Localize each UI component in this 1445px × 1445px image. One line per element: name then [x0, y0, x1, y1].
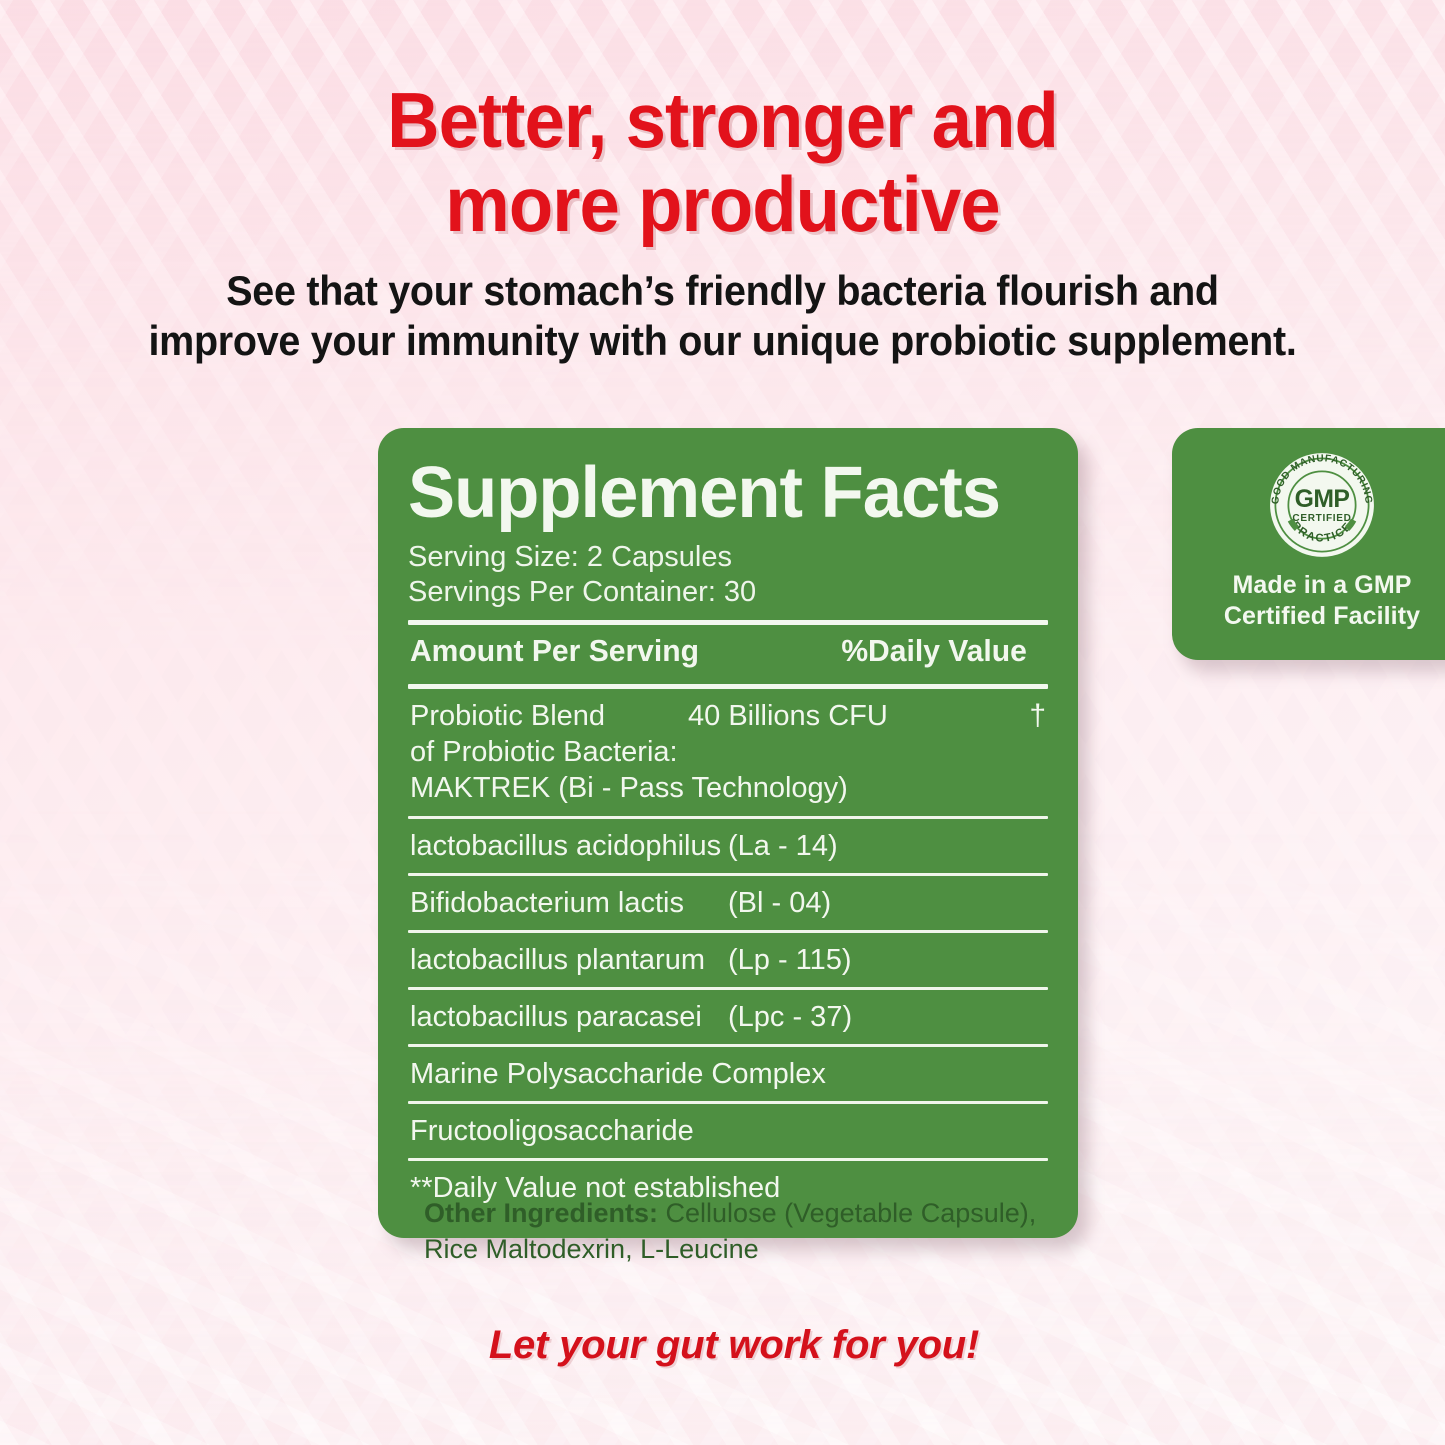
headline: Better, stronger and more productive	[51, 78, 1395, 246]
serving-info: Serving Size: 2 Capsules Servings Per Co…	[408, 540, 1048, 610]
column-header-daily-value: %Daily Value	[841, 633, 1027, 669]
serving-size: Serving Size: 2 Capsules	[408, 540, 1048, 575]
blend-name: Probiotic Blend	[410, 698, 688, 734]
blend-line-2: of Probiotic Bacteria:	[410, 734, 1046, 770]
table-row: lactobacillus plantarum(Lp - 115)	[408, 933, 1048, 987]
subheadline-line-2: improve your immunity with our unique pr…	[109, 316, 1336, 366]
infographic-canvas: Better, stronger and more productive See…	[0, 0, 1445, 1445]
blend-daily-value: †	[1006, 698, 1046, 734]
strain-code: (Lp - 115)	[728, 942, 852, 978]
subheadline: See that your stomach’s friendly bacteri…	[109, 266, 1336, 366]
gmp-caption-line-2: Certified Facility	[1172, 601, 1445, 632]
supplement-facts-title: Supplement Facts	[408, 454, 1035, 532]
headline-line-1: Better, stronger and	[387, 76, 1058, 164]
blend-line-3: MAKTREK (Bi - Pass Technology)	[410, 770, 1046, 806]
supplement-facts-panel: Supplement Facts Serving Size: 2 Capsule…	[378, 428, 1078, 1238]
strain-code: (La - 14)	[728, 828, 838, 864]
gmp-caption-line-1: Made in a GMP	[1232, 571, 1411, 599]
other-ingredients-label: Other Ingredients:	[424, 1198, 658, 1228]
other-ingredients-line-2: Rice Maltodexrin, L-Leucine	[424, 1231, 1064, 1267]
column-header-amount: Amount Per Serving	[410, 633, 699, 669]
strain-code: (Lpc - 37)	[728, 999, 852, 1035]
blend-amount: 40 Billions CFU	[688, 698, 1006, 734]
strain-name: lactobacillus plantarum	[410, 942, 728, 978]
subheadline-line-1: See that your stomach’s friendly bacteri…	[226, 267, 1219, 314]
svg-text:CERTIFIED: CERTIFIED	[1292, 513, 1351, 524]
strain-name: lactobacillus acidophilus	[410, 828, 728, 864]
strain-name: Bifidobacterium lactis	[410, 885, 728, 921]
table-row: Bifidobacterium lactis(Bl - 04)	[408, 876, 1048, 930]
table-row: lactobacillus paracasei(Lpc - 37)	[408, 990, 1048, 1044]
ingredient-name: Fructooligosaccharide	[410, 1115, 694, 1147]
headline-line-2: more productive	[51, 162, 1395, 246]
strain-code: (Bl - 04)	[728, 885, 831, 921]
table-row-probiotic-blend: Probiotic Blend 40 Billions CFU † of Pro…	[408, 689, 1048, 816]
table-row: Marine Polysaccharide Complex	[408, 1047, 1048, 1101]
other-ingredients-line-1: Cellulose (Vegetable Capsule),	[658, 1198, 1036, 1228]
table-header-row: Amount Per Serving %Daily Value	[408, 625, 1029, 678]
gmp-badge-panel: GOOD MANUFACTURING PRACTICE GMP CERTIFIE…	[1172, 428, 1445, 660]
servings-per-container: Servings Per Container: 30	[408, 575, 1048, 610]
strain-name: lactobacillus paracasei	[410, 999, 728, 1035]
svg-text:GMP: GMP	[1295, 486, 1350, 513]
gmp-caption: Made in a GMP Certified Facility	[1172, 570, 1445, 632]
table-row: lactobacillus acidophilus(La - 14)	[408, 819, 1048, 873]
gmp-certified-seal-icon: GOOD MANUFACTURING PRACTICE GMP CERTIFIE…	[1263, 446, 1381, 564]
ingredient-name: Marine Polysaccharide Complex	[410, 1058, 826, 1090]
other-ingredients: Other Ingredients: Cellulose (Vegetable …	[424, 1195, 1064, 1267]
table-row: Fructooligosaccharide	[408, 1104, 1048, 1158]
tagline: Let your gut work for you!	[424, 1322, 1044, 1368]
